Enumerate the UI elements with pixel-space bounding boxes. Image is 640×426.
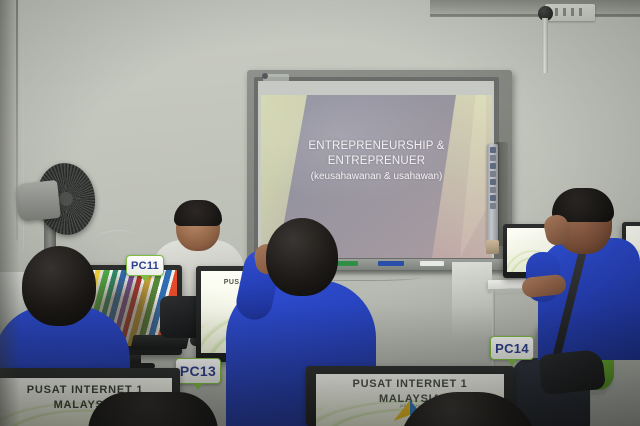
- slide-title-line-2: ENTREPRENUER: [277, 154, 477, 169]
- blue-marker[interactable]: [378, 261, 404, 266]
- instructor-hair: [174, 200, 222, 226]
- board-button-icon[interactable]: [490, 163, 496, 169]
- bottom-shadow-overlay: [0, 306, 640, 426]
- ceiling-edge: [430, 14, 640, 17]
- classroom-photo-scene: ENTREPRENEURSHIP & ENTREPRENUER (keusaha…: [0, 0, 640, 426]
- student-center-head: [266, 218, 338, 296]
- smartboard-button-strip[interactable]: [487, 144, 498, 245]
- fan-motor-housing: [15, 180, 61, 222]
- board-button-icon[interactable]: [490, 195, 496, 201]
- board-button-icon[interactable]: [490, 171, 496, 177]
- slide-subtitle-line: (keusahawanan & usahawan): [277, 170, 477, 183]
- eraser[interactable]: [420, 261, 444, 266]
- cable-conduit: [542, 18, 548, 73]
- board-button-icon[interactable]: [490, 203, 496, 209]
- slide-title-line-1: ENTREPRENEURSHIP &: [277, 139, 477, 154]
- board-pen-holder[interactable]: [486, 240, 499, 254]
- fan-power-cord: [92, 230, 138, 253]
- board-button-icon[interactable]: [490, 155, 496, 161]
- smartboard-power-led-icon: [262, 73, 268, 79]
- workstation-label-text: PC11: [131, 260, 159, 272]
- workstation-label-pc11: PC11: [126, 255, 164, 276]
- board-button-icon[interactable]: [490, 147, 496, 153]
- board-button-icon[interactable]: [490, 179, 496, 185]
- slide-text-block: ENTREPRENEURSHIP & ENTREPRENUER (keusaha…: [277, 139, 477, 184]
- board-button-icon[interactable]: [490, 187, 496, 193]
